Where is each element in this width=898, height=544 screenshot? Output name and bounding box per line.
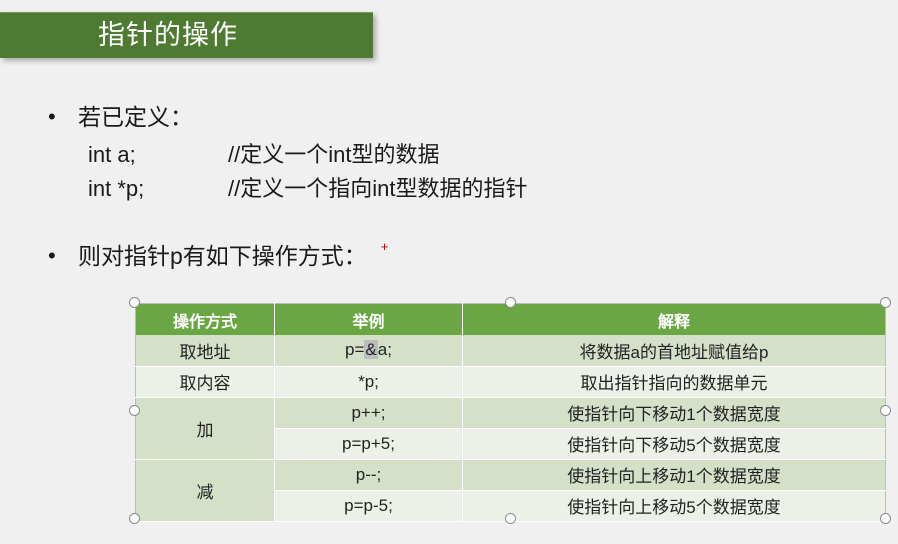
cell-explanation-decrement: 使指针向上移动1个数据宽度 [463,459,886,490]
pointer-operations-table[interactable]: 操作方式 举例 解释 取地址 p=&a; 将数据a的首地址赋值给p 取内容 *p… [135,303,886,522]
example-prefix: p= [345,340,364,359]
cell-operation-add: 加 [136,397,275,459]
selection-handle-top-right[interactable] [880,297,891,308]
code-comment: //定义一个int型的数据 [228,137,439,169]
code-line-int-ptr-p: int *p; //定义一个指向int型数据的指针 [88,171,527,205]
slide-title-banner[interactable]: 指针的操作 [0,12,373,58]
bullet-block-operations[interactable]: • 则对指针p有如下操作方式： + [40,240,388,272]
table-row[interactable]: 取内容 *p; 取出指针指向的数据单元 [136,366,886,397]
bullet-marker-icon: • [40,101,78,133]
table-row[interactable]: 减 p--; 使指针向上移动1个数据宽度 [136,459,886,490]
cell-example-content: *p; [275,366,463,397]
selection-handle-top-center[interactable] [505,297,516,308]
table-row[interactable]: 加 p++; 使指针向下移动1个数据宽度 [136,397,886,428]
cell-example-increment: p++; [275,397,463,428]
column-header-explanation: 解释 [463,304,886,336]
code-line-list: int a; //定义一个int型的数据 int *p; //定义一个指向int… [88,137,527,205]
bullet-label-definitions: 若已定义： [78,101,193,133]
cell-explanation-add-five: 使指针向下移动5个数据宽度 [463,428,886,459]
cell-operation-content: 取内容 [136,366,275,397]
cell-operation-address: 取地址 [136,335,275,366]
code-line-int-a: int a; //定义一个int型的数据 [88,137,527,171]
table-row[interactable]: 取地址 p=&a; 将数据a的首地址赋值给p [136,335,886,366]
selection-handle-bottom-center[interactable] [505,513,516,524]
cell-operation-subtract: 减 [136,459,275,521]
selection-handle-top-left[interactable] [129,297,140,308]
slide-title: 指针的操作 [98,20,238,50]
cell-example-address: p=&a; [275,335,463,366]
selection-handle-bottom-right[interactable] [880,513,891,524]
bullet-label-operations: 则对指针p有如下操作方式： [78,240,367,272]
selection-handle-bottom-left[interactable] [129,513,140,524]
example-suffix: a; [378,340,392,359]
table-body: 取地址 p=&a; 将数据a的首地址赋值给p 取内容 *p; 取出指针指向的数据… [136,335,886,521]
cell-explanation-address: 将数据a的首地址赋值给p [463,335,886,366]
code-comment: //定义一个指向int型数据的指针 [228,171,527,203]
bullet-block-definitions[interactable]: • 若已定义： int a; //定义一个int型的数据 int *p; //定… [40,101,527,205]
bullet-marker-icon: • [40,240,78,272]
cell-example-sub-five: p=p-5; [275,490,463,521]
code-declaration: int a; [88,142,228,168]
code-declaration: int *p; [88,176,228,202]
cell-explanation-content: 取出指针指向的数据单元 [463,366,886,397]
cell-example-add-five: p=p+5; [275,428,463,459]
cell-explanation-increment: 使指针向下移动1个数据宽度 [463,397,886,428]
superscript-plus-marker: + [381,240,389,253]
cell-example-decrement: p--; [275,459,463,490]
column-header-operation: 操作方式 [136,304,275,336]
bullet-row: • 则对指针p有如下操作方式： + [40,240,388,272]
selection-handle-middle-left[interactable] [129,405,140,416]
example-ampersand-highlight: & [364,340,377,359]
table-header-row: 操作方式 举例 解释 [136,304,886,336]
selection-handle-middle-right[interactable] [880,405,891,416]
cell-explanation-sub-five: 使指针向上移动5个数据宽度 [463,490,886,521]
table-header: 操作方式 举例 解释 [136,304,886,336]
bullet-row: • 若已定义： [40,101,527,133]
pointer-operations-table-container[interactable]: 操作方式 举例 解释 取地址 p=&a; 将数据a的首地址赋值给p 取内容 *p… [135,303,886,519]
column-header-example: 举例 [275,304,463,336]
